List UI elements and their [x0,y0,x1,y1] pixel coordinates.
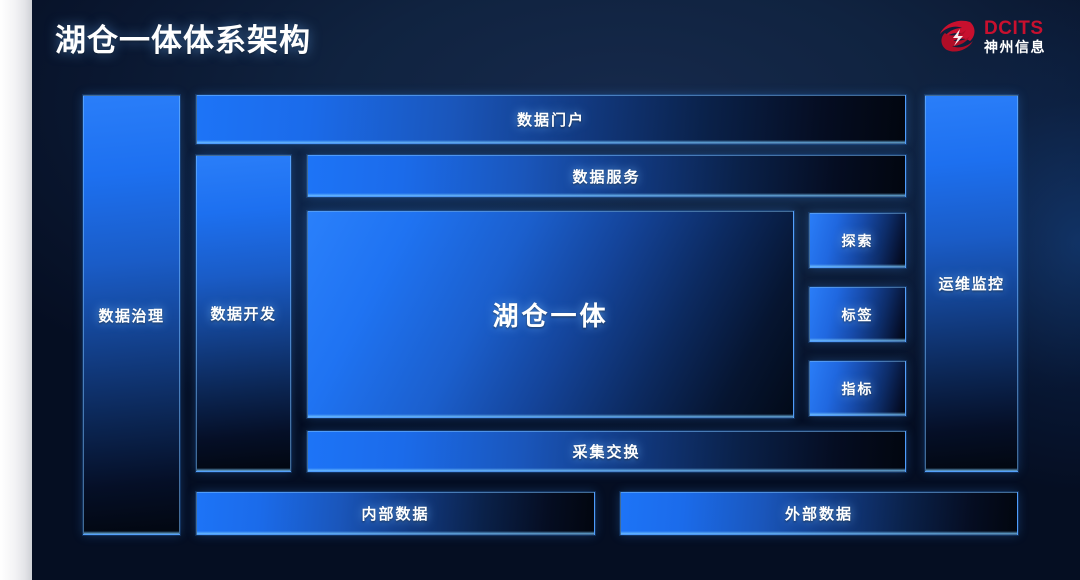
page-title: 湖仓一体体系架构 [55,15,311,60]
block-label-ops-monitoring: 运维监控 [938,273,1004,294]
block-data-portal[interactable]: 数据门户 [196,95,906,144]
block-collect-exchange[interactable]: 采集交换 [307,431,906,472]
logo-text-en: DCITS [984,19,1046,38]
block-label-data-portal: 数据门户 [517,109,585,130]
block-label-internal-data: 内部数据 [361,503,429,524]
block-label-metric: 指标 [842,379,874,399]
block-label-collect-exchange: 采集交换 [572,441,640,462]
logo-wordmark: DCITS 神州信息 [984,19,1046,54]
dcits-swirl-mark-icon [936,16,980,56]
block-label-lakehouse-core: 湖仓一体 [492,296,608,333]
block-data-governance[interactable]: 数据治理 [83,95,180,535]
block-label-external-data: 外部数据 [785,503,853,524]
block-data-service[interactable]: 数据服务 [307,155,906,197]
logo-text-cn: 神州信息 [984,40,1046,54]
block-label-data-development: 数据开发 [210,303,276,324]
block-internal-data[interactable]: 内部数据 [196,492,595,535]
block-external-data[interactable]: 外部数据 [620,492,1018,535]
block-tag[interactable]: 标签 [809,287,906,342]
block-explore[interactable]: 探索 [809,213,906,268]
block-lakehouse-core[interactable]: 湖仓一体 [307,211,794,418]
block-label-data-governance: 数据治理 [98,305,164,326]
block-label-tag: 标签 [842,305,874,325]
slide-canvas: 湖仓一体体系架构 DCITS 神州信息 数据治理 数据开发 运维监控 数据门户 … [0,0,1080,580]
left-page-margin [0,0,32,580]
block-metric[interactable]: 指标 [809,361,906,416]
block-label-explore: 探索 [842,231,874,251]
block-label-data-service: 数据服务 [572,166,640,187]
block-ops-monitoring[interactable]: 运维监控 [925,95,1018,472]
block-data-development[interactable]: 数据开发 [196,155,291,472]
company-logo: DCITS 神州信息 [936,10,1062,62]
